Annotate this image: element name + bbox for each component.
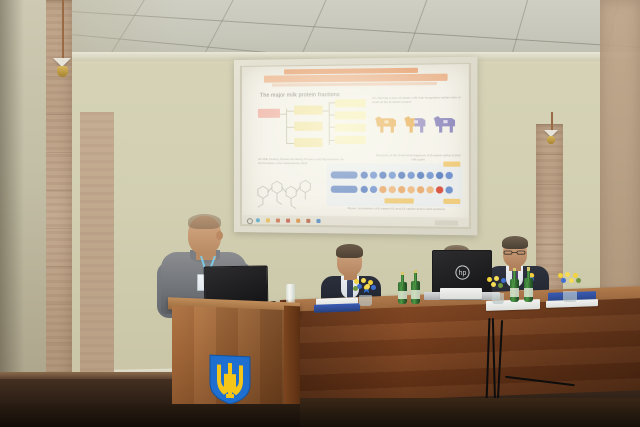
- flowchart-l3-box-1: [335, 99, 366, 107]
- flowchart-l2-box-2: [294, 122, 322, 131]
- sequence-row-label-2: [331, 186, 358, 193]
- search-icon[interactable]: [247, 218, 253, 224]
- flowchart-l2-box-3: [294, 138, 322, 147]
- marble-pilaster-far-right: [600, 0, 640, 300]
- flowchart-l3-box-2: [335, 111, 366, 119]
- sconce-base-left: [57, 66, 68, 77]
- slide-title: The major milk protein fractions: [260, 92, 340, 99]
- cow-icon-2: [401, 112, 428, 137]
- flowchart-root-box: [258, 109, 280, 118]
- sequence-tag-bottom: [384, 198, 413, 203]
- hp-logo-icon: hp: [455, 265, 470, 280]
- presenter-ear: [216, 231, 223, 240]
- cow-icon-3: [431, 112, 459, 137]
- svg-text:hp: hp: [459, 270, 467, 277]
- chemical-structure-diagram: [252, 171, 315, 214]
- bottle-green-1[interactable]: [398, 272, 407, 304]
- app-icon-2[interactable]: [286, 218, 290, 222]
- sequence-tag-right-top: [443, 162, 460, 167]
- laptop-hp-paper: [440, 288, 482, 299]
- bottle-green-3[interactable]: [510, 268, 519, 302]
- sequence-row-label-1: [331, 171, 358, 178]
- app-icon-5[interactable]: [316, 218, 320, 222]
- flowchart-l2-box-1: [294, 105, 322, 114]
- eyeglasses-icon: [503, 250, 527, 255]
- conference-room-photo: The major milk protein fractions AF Milk…: [0, 0, 640, 427]
- presenter-hair: [188, 214, 221, 229]
- foreground-floor-shadow-left: [0, 404, 300, 427]
- panelist-center-hair: [336, 244, 363, 258]
- app-icon-1[interactable]: [276, 218, 280, 222]
- panelist-right-hair: [502, 236, 528, 249]
- ukrainian-coat-of-arms: [208, 353, 252, 407]
- slide-footnote: Figure: comparison of β-casein A1 and A2…: [339, 206, 454, 211]
- explorer-icon[interactable]: [266, 218, 270, 222]
- flowchart-l3-box-4: [335, 136, 366, 144]
- sequence-tag-right-bottom: [443, 199, 460, 204]
- foreground-floor-shadow: [300, 398, 640, 427]
- projector-screen: The major milk protein fractions AF Milk…: [234, 57, 477, 236]
- cow-icon-1: [372, 112, 399, 137]
- flowchart-l3-box-3: [335, 124, 366, 132]
- presidium-table-shading: [280, 298, 640, 404]
- flower-bouquet-1: [352, 278, 378, 306]
- app-icon-4[interactable]: [306, 218, 310, 222]
- presentation-slide: The major milk protein fractions AF Milk…: [242, 64, 469, 227]
- sequence-caption: Structure of the N-terminal fragment of …: [374, 153, 462, 161]
- marble-pilaster-left-inner: [80, 112, 114, 412]
- bottle-green-2[interactable]: [411, 270, 420, 304]
- powerpoint-ribbon-underline: [272, 82, 437, 87]
- app-icon-3[interactable]: [296, 218, 300, 222]
- bottle-green-4[interactable]: [524, 267, 533, 302]
- system-tray[interactable]: [435, 220, 458, 225]
- cortana-icon[interactable]: [256, 218, 260, 222]
- cow-graphic-caption: A2 milk has a type of casein milk that r…: [372, 95, 462, 104]
- sconce-base-right: [547, 136, 555, 144]
- flower-bouquet-2: [486, 276, 510, 304]
- left-wall-shadow: [0, 0, 24, 427]
- flower-bouquet-3: [556, 272, 584, 302]
